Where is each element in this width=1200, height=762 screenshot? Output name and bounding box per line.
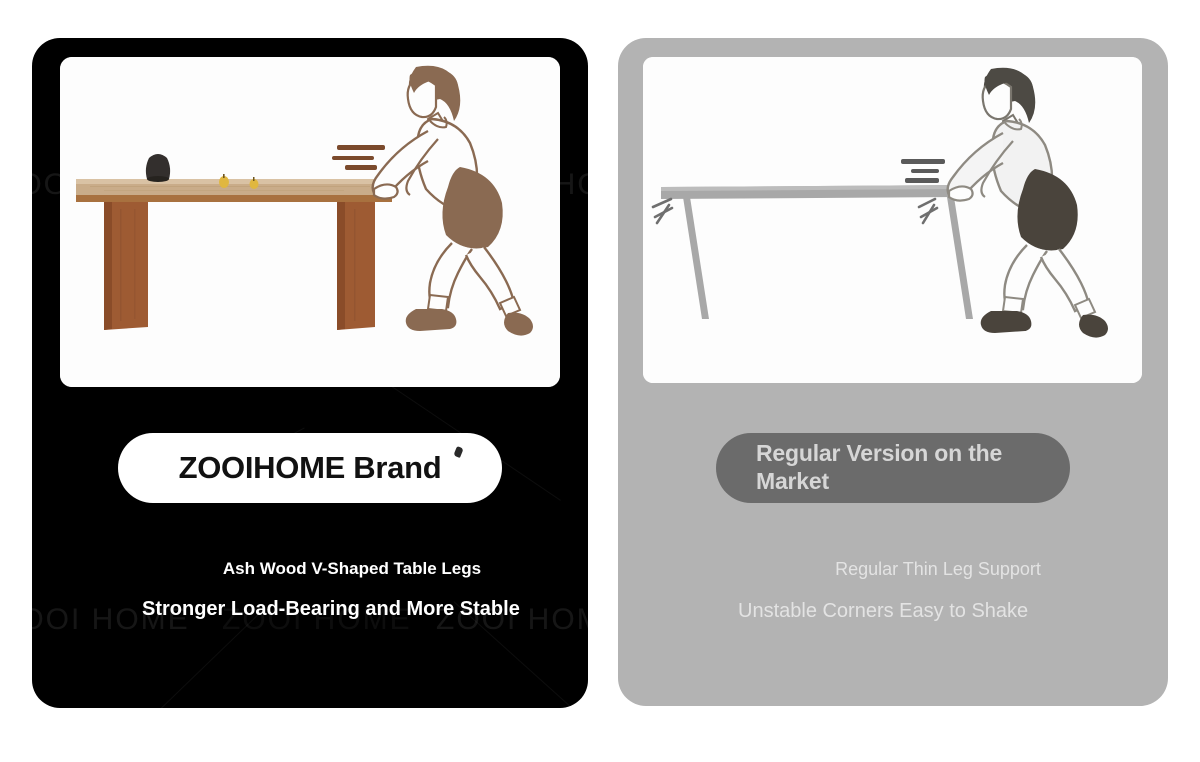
regular-market-version-panel: Regular Version on the Market Regular Th… <box>618 38 1168 706</box>
left-subheading: Ash Wood V-Shaped Table Legs <box>142 558 562 579</box>
pill-artifact-mark <box>453 446 463 458</box>
market-version-pill-button[interactable]: Regular Version on the Market <box>716 433 1070 503</box>
left-heading: Stronger Load-Bearing and More Stable <box>142 597 562 623</box>
brand-pill-label: ZOOIHOME Brand <box>179 451 442 485</box>
watermark-line <box>120 609 265 708</box>
zooihome-brand-panel: ZOOI HOME ZOOI HOME ZOOI HOME ZOOI HOME … <box>32 38 588 708</box>
woman-pushing-thin-leg-table-illustration <box>643 57 1142 383</box>
market-version-pill-label: Regular Version on the Market <box>756 440 1030 495</box>
right-copy-block: Regular Thin Leg Support Unstable Corner… <box>738 558 1138 624</box>
woman-pushing-solid-wood-table-illustration <box>60 57 560 387</box>
left-copy-block: Ash Wood V-Shaped Table Legs Stronger Lo… <box>142 558 562 623</box>
brand-pill-button[interactable]: ZOOIHOME Brand <box>118 433 502 503</box>
comparison-stage: ZOOI HOME ZOOI HOME ZOOI HOME ZOOI HOME … <box>0 0 1200 762</box>
right-heading: Unstable Corners Easy to Shake <box>738 599 1138 625</box>
right-subheading: Regular Thin Leg Support <box>738 558 1138 581</box>
vase-decor <box>146 154 170 182</box>
